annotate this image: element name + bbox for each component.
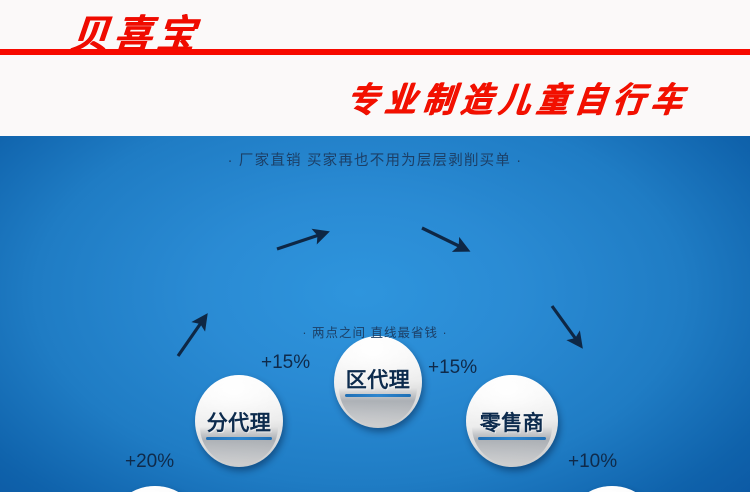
edge-label-15-percent-a: +15% (261, 352, 310, 374)
node-label-sub-agent: 分代理 (195, 407, 283, 437)
node-label-area-agent: 区代理 (334, 364, 422, 394)
edge-label-15-percent-b: +15% (428, 357, 477, 379)
promo-banner: 贝喜宝 专业制造儿童自行车 · 厂家直销 买家再也不用为层层剥削买单 · (0, 0, 750, 492)
node-retailer: 零售商 (466, 375, 558, 467)
header-red-divider (0, 49, 750, 55)
node-underline (345, 394, 410, 397)
node-underline (478, 437, 546, 440)
banner-header: 贝喜宝 专业制造儿童自行车 (0, 0, 750, 136)
edge-label-10-percent: +10% (568, 451, 617, 473)
node-sub-agent: 分代理 (195, 375, 283, 467)
diagram-panel: · 厂家直销 买家再也不用为层层剥削买单 · (0, 136, 750, 492)
node-area-agent: 区代理 (334, 336, 422, 428)
arrow-sub-agent-to-area-agent (277, 234, 322, 249)
header-tagline: 专业制造儿童自行车 (345, 72, 693, 122)
node-label-retailer: 零售商 (466, 407, 558, 437)
caption-bottom: · 两点之间 直线最省钱 · (0, 322, 750, 341)
node-underline (206, 437, 271, 440)
edge-label-20-percent: +20% (125, 451, 174, 473)
arrow-area-agent-to-retailer (422, 228, 463, 248)
flow-arrows-layer (0, 136, 750, 492)
